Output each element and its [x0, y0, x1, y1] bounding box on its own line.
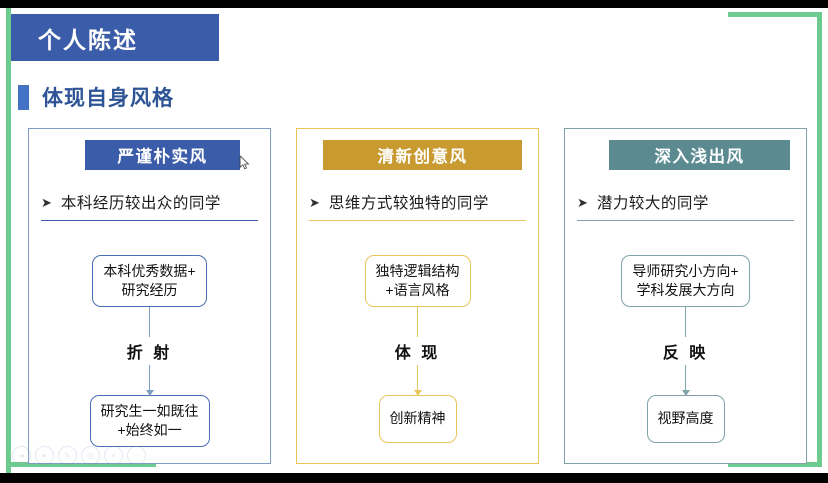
- card-flow-diagram: 独特逻辑结构 +语言风格 体 现 创新精神: [297, 255, 538, 443]
- mouse-pointer-icon: [239, 155, 250, 170]
- flow-top-node-line1: 导师研究小方向+: [632, 262, 738, 281]
- menu-icon[interactable]: ≡: [104, 446, 123, 465]
- flow-bottom-node-line1: 视野高度: [658, 409, 714, 428]
- flow-top-node: 导师研究小方向+ 学科发展大方向: [621, 255, 749, 307]
- flow-connector: 体 现: [417, 307, 418, 395]
- prev-icon[interactable]: ◂: [12, 446, 31, 465]
- card-flow-diagram: 本科优秀数据+ 研究经历 折 射 研究生一如既往 +始终如一: [29, 255, 270, 447]
- section-heading: 体现自身风格: [18, 82, 174, 112]
- card-bullet-row: ➤ 思维方式较独特的同学: [309, 191, 526, 213]
- flow-connector-label: 反 映: [654, 337, 717, 365]
- card-caption-banner: 深入浅出风: [609, 140, 790, 170]
- card-divider: [309, 220, 526, 221]
- flow-bottom-node: 研究生一如既往 +始终如一: [90, 395, 210, 447]
- laser-icon[interactable]: ◎: [81, 446, 100, 465]
- flow-top-node-line2: 研究经历: [122, 281, 178, 300]
- flow-top-node-line1: 本科优秀数据+: [103, 262, 195, 281]
- slide-title-banner: 个人陈述: [11, 14, 219, 61]
- card-caption-label: 清新创意风: [378, 143, 468, 167]
- arrow-head-icon: [414, 390, 422, 396]
- frame-edge-left: [6, 8, 11, 473]
- slide-title: 个人陈述: [38, 21, 138, 55]
- flow-bottom-node-line1: 创新精神: [390, 409, 446, 428]
- play-icon[interactable]: ▸: [35, 446, 54, 465]
- flow-top-node-line1: 独特逻辑结构: [376, 262, 460, 281]
- style-card-shenru[interactable]: 深入浅出风 ➤ 潜力较大的同学 导师研究小方向+ 学科发展大方向 反 映 视野高…: [564, 128, 807, 464]
- card-bullet-text: 本科经历较出众的同学: [61, 191, 221, 213]
- card-caption-banner: 清新创意风: [323, 140, 522, 170]
- card-caption-label: 严谨朴实风: [118, 143, 208, 167]
- flow-connector-label: 折 射: [118, 337, 181, 365]
- card-bullet-row: ➤ 潜力较大的同学: [577, 191, 794, 213]
- flow-bottom-node: 创新精神: [379, 395, 457, 443]
- arrow-head-icon: [682, 390, 690, 396]
- card-bullet-text: 潜力较大的同学: [597, 191, 709, 213]
- card-flow-diagram: 导师研究小方向+ 学科发展大方向 反 映 视野高度: [565, 255, 806, 443]
- flow-top-node-line2: +语言风格: [385, 281, 449, 300]
- arrow-bullet-icon: ➤: [309, 196, 320, 209]
- flow-top-node-line2: 学科发展大方向: [637, 281, 735, 300]
- flow-top-node: 本科优秀数据+ 研究经历: [92, 255, 206, 307]
- style-card-qingxin[interactable]: 清新创意风 ➤ 思维方式较独特的同学 独特逻辑结构 +语言风格 体 现 创新精神: [296, 128, 539, 464]
- card-bullet-text: 思维方式较独特的同学: [329, 191, 489, 213]
- pen-icon[interactable]: ✎: [58, 446, 77, 465]
- card-divider: [577, 220, 794, 221]
- flow-connector: 折 射: [149, 307, 150, 395]
- arrow-head-icon: [146, 390, 154, 396]
- square-bullet-icon: [18, 85, 29, 110]
- more-icon[interactable]: ⋯: [127, 446, 146, 465]
- frame-edge-right: [817, 12, 822, 467]
- flow-bottom-node-line1: 研究生一如既往: [101, 402, 199, 421]
- flow-connector-label: 体 现: [386, 337, 449, 365]
- arrow-bullet-icon: ➤: [577, 196, 588, 209]
- card-caption-banner: 严谨朴实风: [85, 140, 240, 170]
- frame-edge-top: [728, 12, 822, 17]
- card-caption-label: 深入浅出风: [655, 143, 745, 167]
- flow-connector: 反 映: [685, 307, 686, 395]
- section-heading-label: 体现自身风格: [42, 82, 174, 112]
- style-card-yanjin[interactable]: 严谨朴实风 ➤ 本科经历较出众的同学 本科优秀数据+ 研究经历 折 射 研究生一…: [28, 128, 271, 464]
- card-bullet-row: ➤ 本科经历较出众的同学: [41, 191, 258, 213]
- flow-top-node: 独特逻辑结构 +语言风格: [365, 255, 471, 307]
- slide-canvas: 个人陈述 体现自身风格 严谨朴实风 ➤ 本科经历较出众的同学 本科优秀数据+ 研…: [0, 8, 828, 473]
- arrow-bullet-icon: ➤: [41, 196, 52, 209]
- flow-bottom-node: 视野高度: [647, 395, 725, 443]
- presentation-toolbar-watermark[interactable]: ◂▸✎◎≡⋯: [12, 446, 146, 465]
- flow-bottom-node-line2: +始终如一: [117, 421, 181, 440]
- card-divider: [41, 220, 258, 221]
